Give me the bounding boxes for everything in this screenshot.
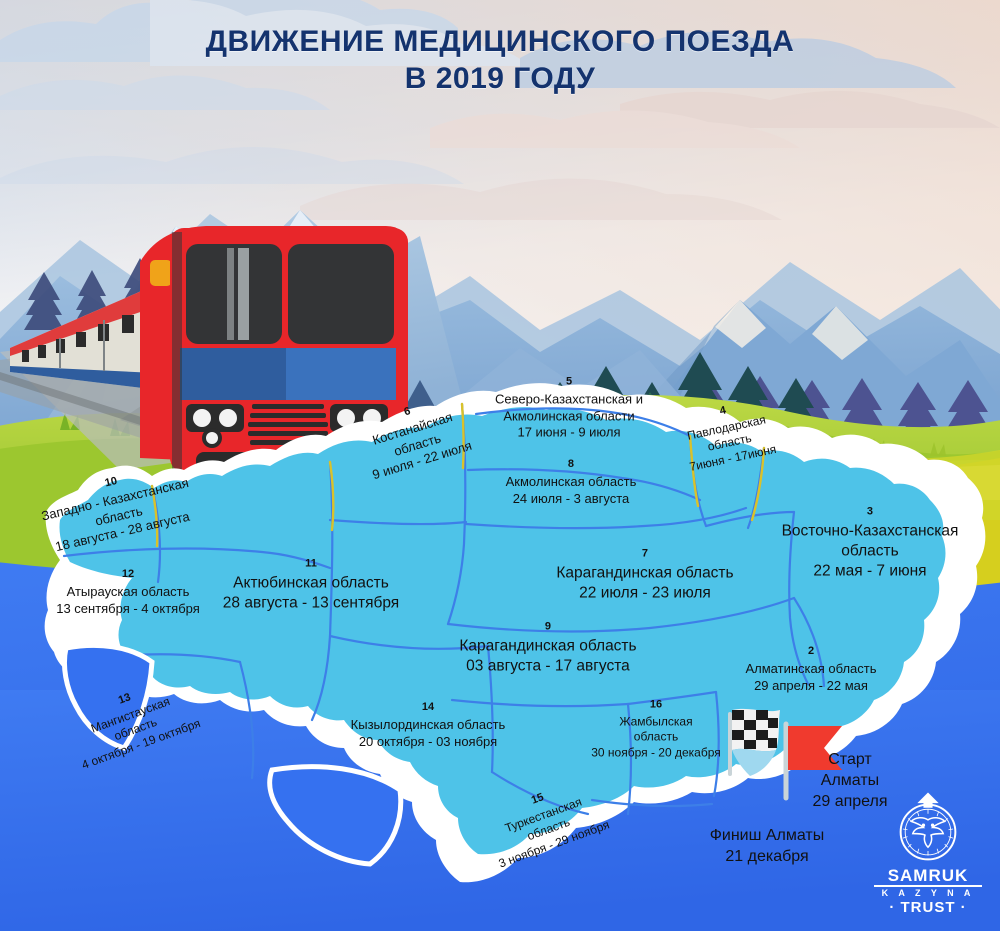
checkered-flag-icon (730, 709, 780, 776)
logo-word-kazyna: K A Z Y N A (874, 889, 982, 898)
logo-word-samruk: SAMRUK (874, 867, 982, 887)
eagle-emblem-icon (890, 791, 966, 867)
samruk-kazyna-logo: SAMRUK K A Z Y N A · TRUST · (874, 791, 982, 919)
red-flag-icon (786, 724, 842, 798)
infographic-canvas: ДВИЖЕНИЕ МЕДИЦИНСКОГО ПОЕЗДА В 2019 ГОДУ… (0, 0, 1000, 931)
route-markers (0, 0, 1000, 931)
logo-word-trust: · TRUST · (874, 900, 982, 915)
